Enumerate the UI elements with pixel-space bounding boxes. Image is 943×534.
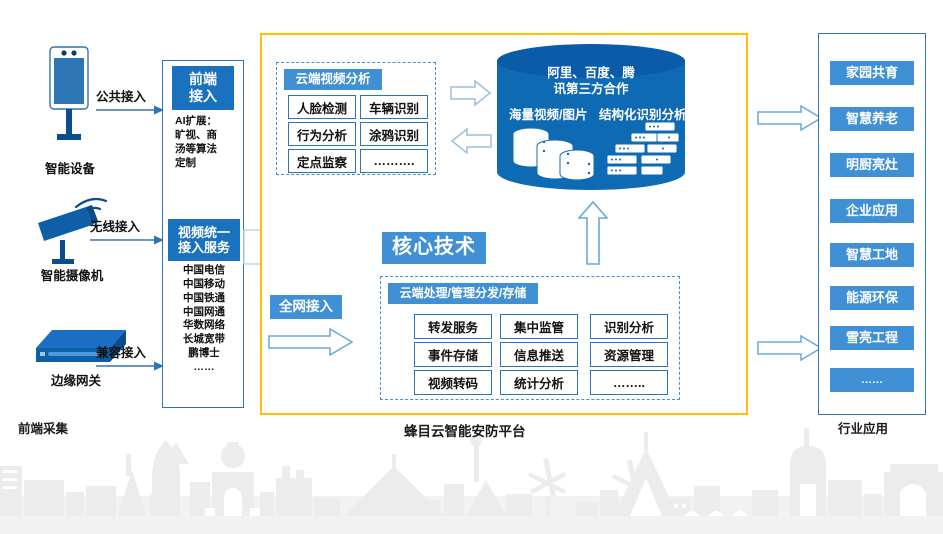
core-item-more[interactable]: …….. — [590, 370, 668, 395]
architecture-diagram: 智能设备 智能摄像机 边缘网关 公共接入 无线接入 — [0, 0, 943, 534]
analysis-item-more[interactable]: ………. — [360, 149, 428, 173]
server-rack-icon — [601, 120, 679, 186]
video-unified-operators-list: 中国电信 中国移动 中国铁通 中国网通 华数网络 长城宽带 鹏博士 …… — [168, 264, 240, 375]
analysis-item-graffiti-recognition[interactable]: 涂鸦识别 — [360, 122, 428, 146]
full-network-access-badge: 全网接入 — [270, 295, 342, 319]
applications-column-frame — [818, 33, 926, 415]
front-end-access-body: AI扩展： 旷视、商 汤等算法 定制 — [175, 115, 243, 170]
smart-device-icon — [36, 45, 102, 155]
core-item-video-transcoding[interactable]: 视频转码 — [414, 370, 492, 395]
device-label-smart-device: 智能设备 — [20, 158, 120, 177]
core-tech-subtitle-badge: 云端处理/管理分发/存储 — [388, 283, 538, 304]
cloud-storage-cylinder: 阿里、百度、腾 讯第三方合作 海量视频/图片 结构化识别分析 — [497, 44, 685, 196]
analysis-item-behavior-analysis[interactable]: 行为分析 — [288, 122, 356, 146]
analysis-to-cloud-arrow — [450, 80, 492, 106]
cloud-partners-title: 阿里、百度、腾 讯第三方合作 — [497, 66, 685, 97]
core-tech-to-cloud-arrow — [578, 200, 608, 266]
caption-industry-applications: 行业应用 — [838, 418, 888, 437]
cloud-left-label: 海量视频/图片 — [509, 104, 587, 123]
full-network-access-arrow — [268, 328, 354, 356]
core-item-resource-management[interactable]: 资源管理 — [590, 342, 668, 367]
application-item-jiayuan-gongyu[interactable]: 家园共育 — [830, 61, 914, 85]
core-tech-title-badge: 核心技术 — [382, 232, 486, 264]
video-analysis-title-badge: 云端视频分析 — [284, 69, 382, 90]
platform-to-applications-arrow-bottom — [757, 335, 823, 361]
core-item-centralized-supervision[interactable]: 集中监管 — [500, 314, 578, 339]
database-stack-icon — [511, 124, 597, 186]
bottom-band — [0, 496, 943, 534]
public-access-arrow — [96, 103, 164, 117]
analysis-item-face-detection[interactable]: 人脸检测 — [288, 95, 356, 119]
caption-platform: 蜂目云智能安防平台 — [404, 420, 526, 440]
cloud-to-analysis-arrow — [450, 128, 492, 154]
application-item-smart-construction-site[interactable]: 智慧工地 — [830, 243, 914, 267]
application-item-smart-elderly-care[interactable]: 智慧养老 — [830, 107, 914, 131]
front-end-access-badge: 前端 接入 — [172, 66, 234, 110]
core-item-event-storage[interactable]: 事件存储 — [414, 342, 492, 367]
application-item-energy-environment[interactable]: 能源环保 — [830, 286, 914, 310]
application-item-bright-kitchen[interactable]: 明厨亮灶 — [830, 153, 914, 177]
caption-front-end-capture: 前端采集 — [18, 418, 68, 437]
core-item-forwarding-service[interactable]: 转发服务 — [414, 314, 492, 339]
application-item-more[interactable]: …… — [830, 368, 914, 392]
analysis-item-vehicle-recognition[interactable]: 车辆识别 — [360, 95, 428, 119]
device-label-smart-camera: 智能摄像机 — [12, 265, 132, 284]
analysis-item-fixed-point-monitoring[interactable]: 定点监察 — [288, 149, 356, 173]
compatible-access-arrow — [96, 359, 164, 373]
application-item-xueliang-project[interactable]: 雪亮工程 — [830, 326, 914, 350]
core-item-recognition-analysis[interactable]: 识别分析 — [590, 314, 668, 339]
application-item-enterprise-application[interactable]: 企业应用 — [830, 199, 914, 223]
wireless-access-arrow — [90, 233, 164, 247]
core-item-message-push[interactable]: 信息推送 — [500, 342, 578, 367]
video-unified-access-badge: 视频统一 接入服务 — [168, 219, 240, 261]
platform-to-applications-arrow-top — [757, 105, 823, 131]
core-item-statistical-analysis[interactable]: 统计分析 — [500, 370, 578, 395]
